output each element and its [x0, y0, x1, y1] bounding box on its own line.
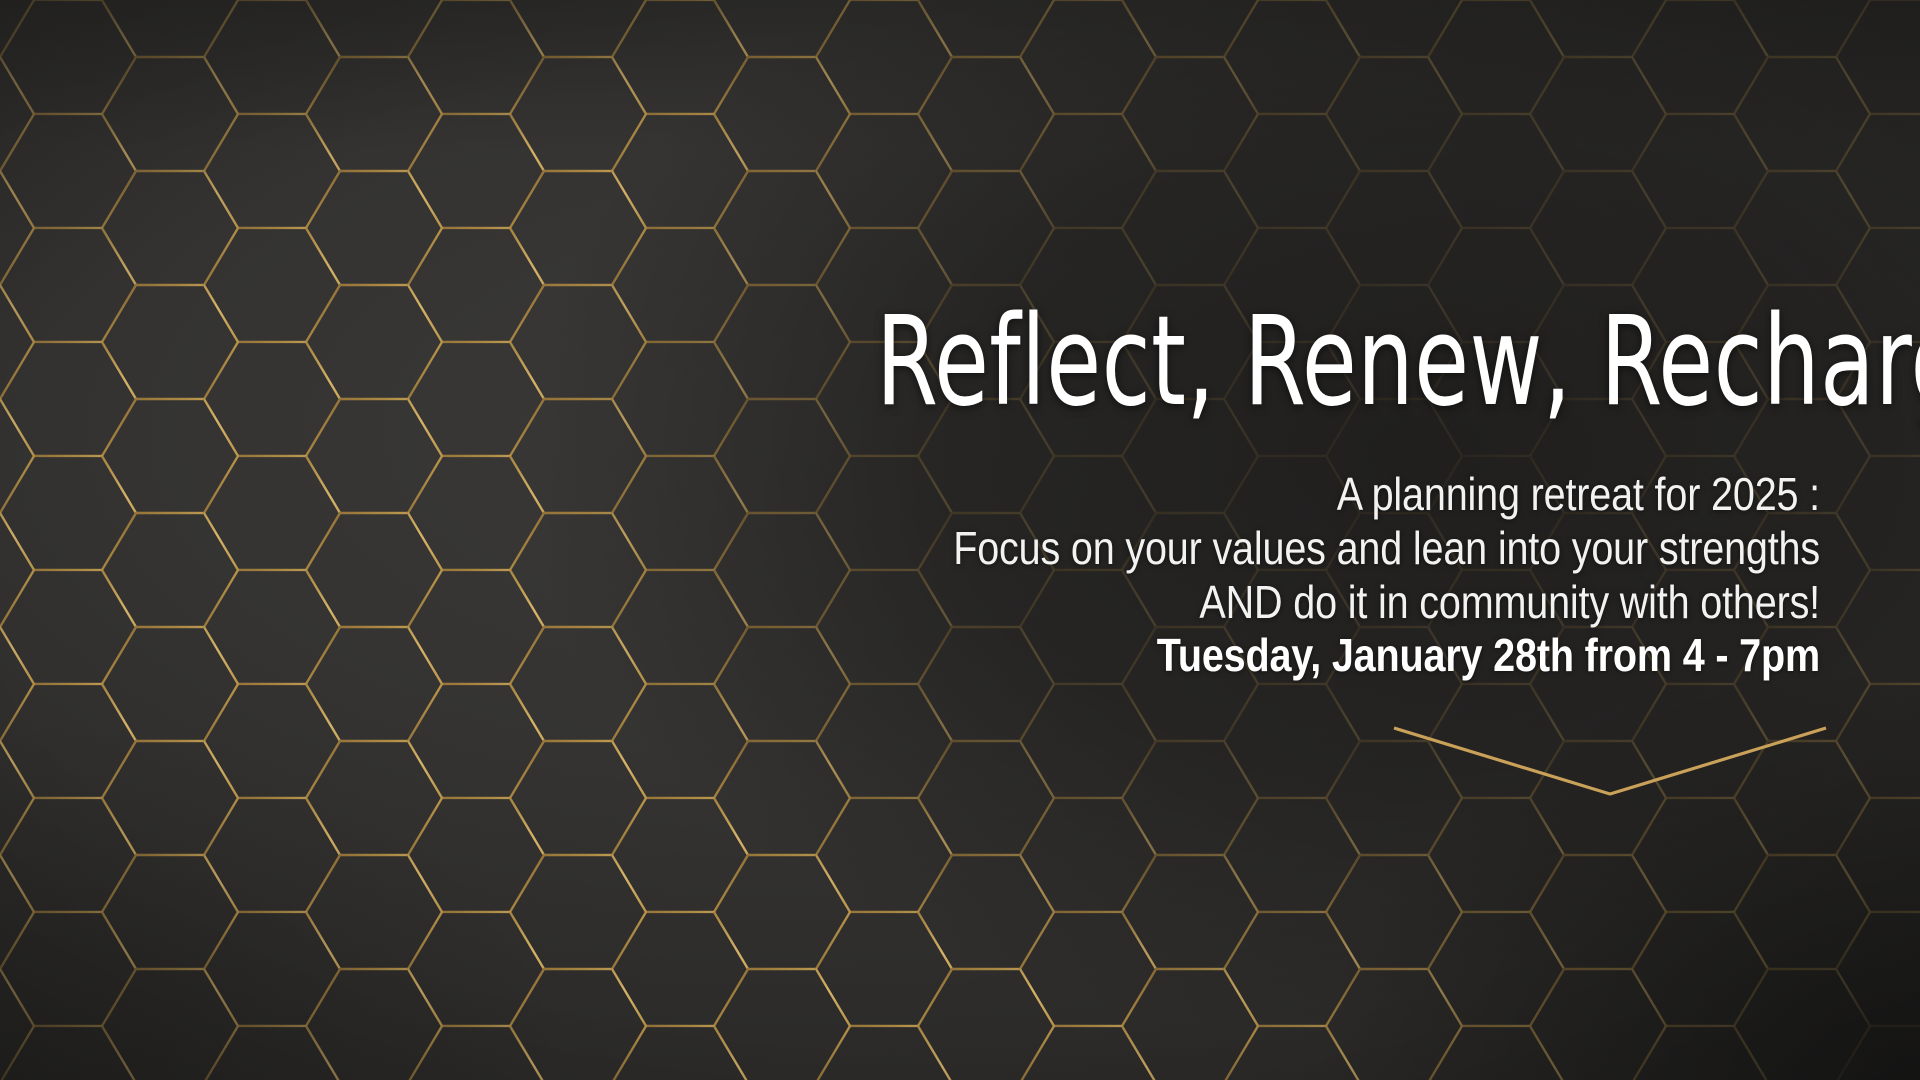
banner-content: Reflect, Renew, Recharge A planning retr…: [640, 300, 1820, 683]
subtitle-line-2: Focus on your values and lean into your …: [805, 522, 1820, 576]
subtitle-line-1: A planning retreat for 2025 :: [805, 468, 1820, 522]
page-title: Reflect, Renew, Recharge: [876, 300, 1820, 424]
subtitle-line-3: AND do it in community with others!: [805, 576, 1820, 630]
subtitle-block: A planning retreat for 2025 : Focus on y…: [640, 468, 1820, 683]
event-date-line: Tuesday, January 28th from 4 - 7pm: [805, 629, 1820, 683]
promo-banner: Reflect, Renew, Recharge A planning retr…: [0, 0, 1920, 1080]
